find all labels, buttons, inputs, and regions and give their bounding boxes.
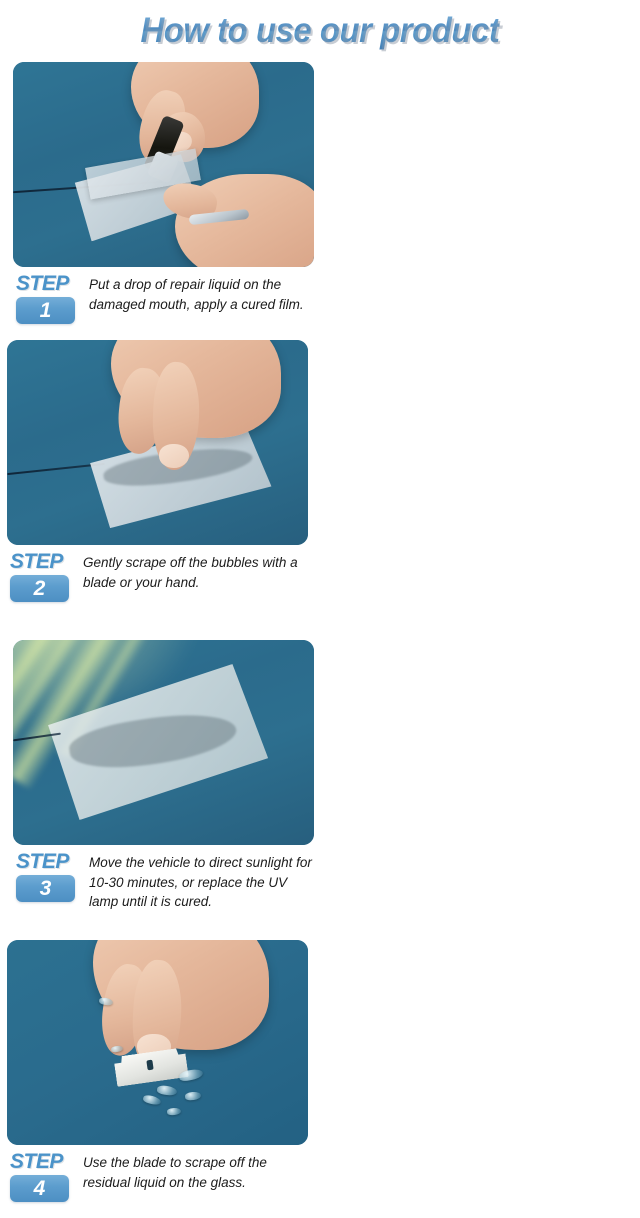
step-1-number: 1 — [16, 297, 75, 324]
step-4-caption: STEP 4 Use the blade to scrape off the r… — [7, 1145, 314, 1218]
step-2-photo — [7, 340, 308, 545]
step-1-caption: STEP 1 Put a drop of repair liquid on th… — [13, 267, 320, 340]
step-3-label: STEP — [16, 852, 82, 872]
page-title-wrapper: How to use our product — [129, 11, 511, 51]
step-3-photo — [13, 640, 314, 845]
step-2-text: Gently scrape off the bubbles with a bla… — [76, 552, 314, 592]
step-1-photo — [13, 62, 314, 267]
step-card-3: STEP 3 Move the vehicle to direct sunlig… — [13, 640, 320, 918]
step-3-number: 3 — [16, 875, 75, 902]
step-card-1: STEP 1 Put a drop of repair liquid on th… — [13, 62, 320, 340]
step-1-text: Put a drop of repair liquid on the damag… — [82, 274, 320, 314]
step-card-2: STEP 2 Gently scrape off the bubbles wit… — [7, 340, 314, 618]
step-4-badge-block: STEP 4 — [7, 1152, 76, 1202]
step-3-caption: STEP 3 Move the vehicle to direct sunlig… — [13, 845, 320, 918]
step-4-label: STEP — [10, 1152, 76, 1172]
step-2-label: STEP — [10, 552, 76, 572]
step-3-text: Move the vehicle to direct sunlight for … — [82, 852, 320, 912]
step-2-badge-block: STEP 2 — [7, 552, 76, 602]
step-card-4: STEP 4 Use the blade to scrape off the r… — [7, 940, 314, 1218]
step-1-badge-block: STEP 1 — [13, 274, 82, 324]
step-2-caption: STEP 2 Gently scrape off the bubbles wit… — [7, 545, 314, 618]
step-4-photo — [7, 940, 308, 1145]
step-3-badge-block: STEP 3 — [13, 852, 82, 902]
blade-slot — [146, 1060, 153, 1071]
step-1-label: STEP — [16, 274, 82, 294]
steps-grid: STEP 1 Put a drop of repair liquid on th… — [0, 62, 640, 1218]
step-4-text: Use the blade to scrape off the residual… — [76, 1152, 314, 1192]
fingernail-index — [159, 444, 189, 468]
step-2-number: 2 — [10, 575, 69, 602]
page-title: How to use our product — [141, 11, 500, 51]
page-header: How to use our product — [0, 0, 640, 62]
step-4-number: 4 — [10, 1175, 69, 1202]
